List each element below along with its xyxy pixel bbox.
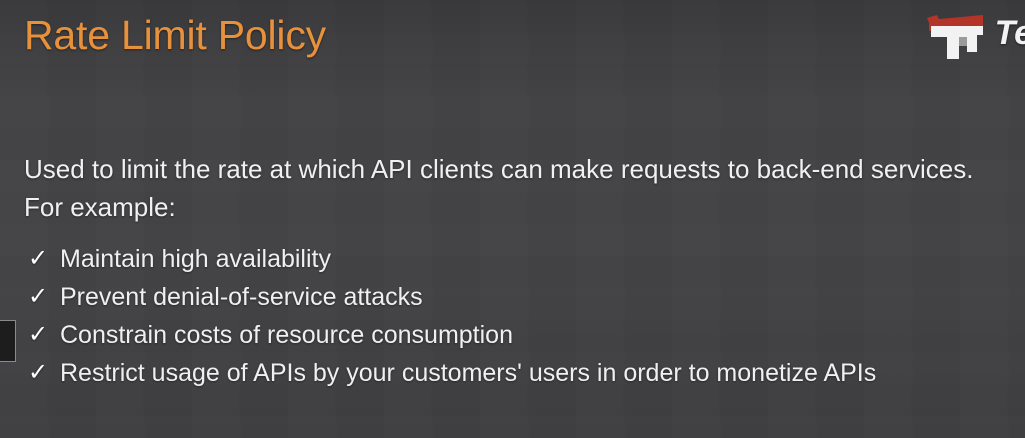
list-item-label: Prevent denial-of-service attacks <box>60 278 1009 316</box>
brand-wordmark: Te <box>995 16 1025 50</box>
bullet-list: ✓ Maintain high availability ✓ Prevent d… <box>24 240 1009 392</box>
list-item: ✓ Prevent denial-of-service attacks <box>24 278 1009 316</box>
check-icon: ✓ <box>24 240 60 278</box>
list-item: ✓ Restrict usage of APIs by your custome… <box>24 354 1009 392</box>
list-item: ✓ Constrain costs of resource consumptio… <box>24 316 1009 354</box>
tt-monogram-icon <box>925 6 987 60</box>
check-icon: ✓ <box>24 278 60 316</box>
list-item-label: Maintain high availability <box>60 240 1009 278</box>
list-item-label: Constrain costs of resource consumption <box>60 316 1009 354</box>
slide-canvas: Rate Limit Policy Te Used to limit the r… <box>0 0 1025 438</box>
check-icon: ✓ <box>24 316 60 354</box>
left-edge-overlay-box <box>0 320 16 362</box>
page-title: Rate Limit Policy <box>24 12 326 59</box>
check-icon: ✓ <box>24 354 60 392</box>
list-item-label: Restrict usage of APIs by your customers… <box>60 354 1009 392</box>
list-item: ✓ Maintain high availability <box>24 240 1009 278</box>
brand-logo: Te <box>925 4 1025 62</box>
intro-paragraph: Used to limit the rate at which API clie… <box>24 150 984 226</box>
